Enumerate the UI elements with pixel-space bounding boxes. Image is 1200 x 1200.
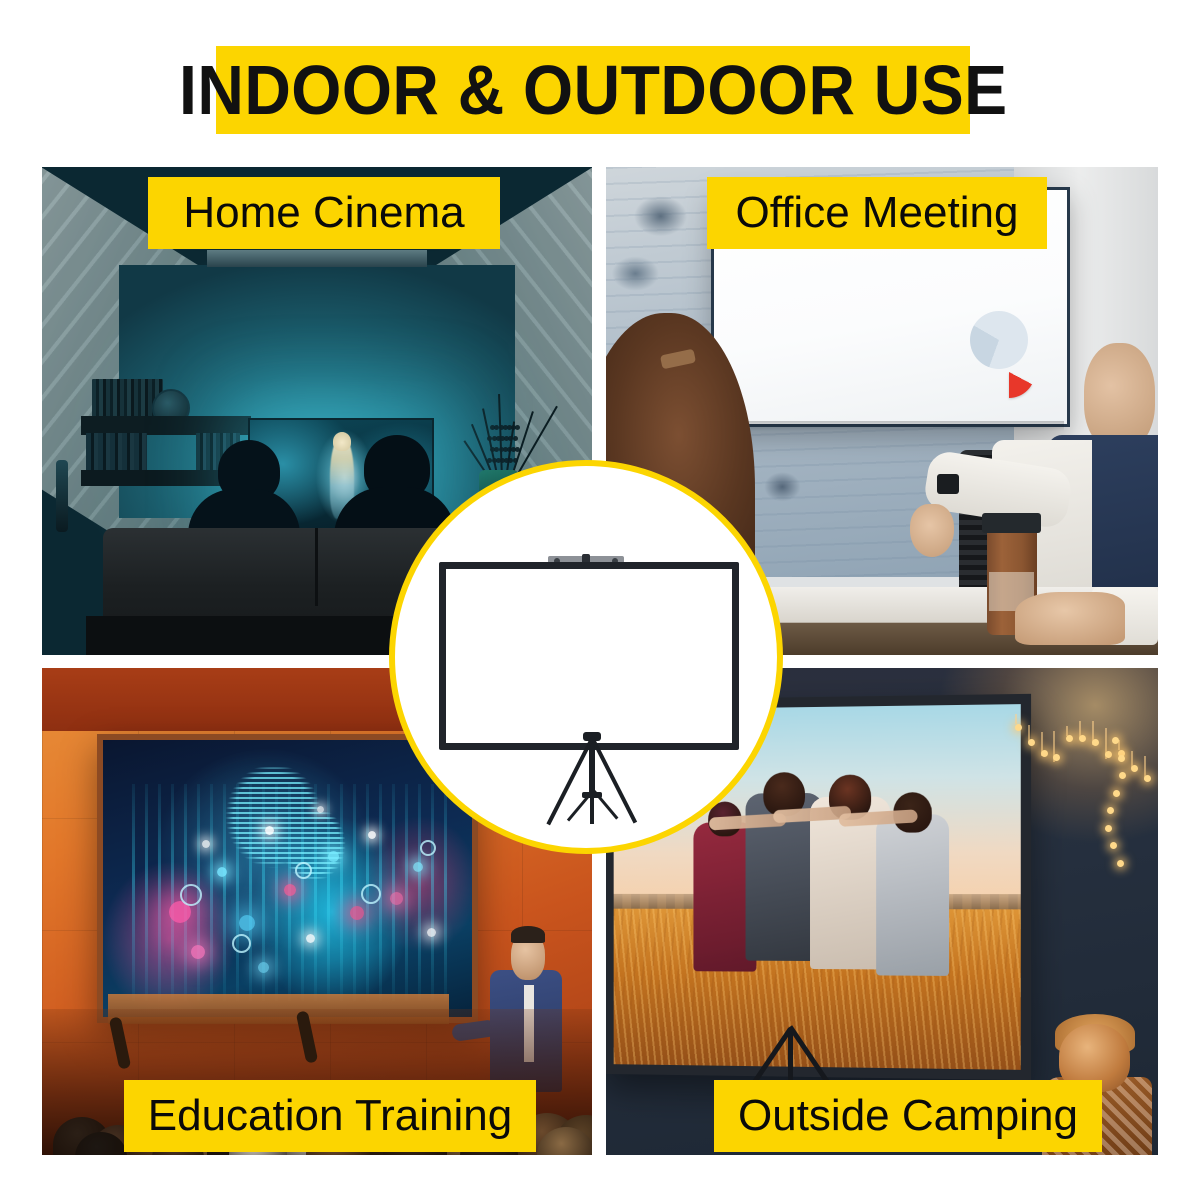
branch-bud <box>515 425 520 430</box>
string-light-bulb <box>1113 790 1120 797</box>
ceiling-beam <box>207 250 427 267</box>
floor-lamp <box>56 460 68 532</box>
screen-shadow <box>711 421 1064 431</box>
data-node <box>202 840 210 848</box>
data-node <box>284 884 296 896</box>
presenter-head <box>1084 343 1156 450</box>
string-light-bulb <box>1092 739 1099 746</box>
product-inset-circle <box>389 460 783 854</box>
badge-office-meeting: Office Meeting <box>707 177 1047 249</box>
data-node <box>306 934 315 943</box>
data-node <box>265 826 274 835</box>
tripod-leg-3 <box>546 738 593 825</box>
string-light-bulb <box>1119 772 1126 779</box>
string-light-bulb <box>1015 724 1022 731</box>
friend-body-4 <box>876 815 949 977</box>
badge-home-cinema-label: Home Cinema <box>183 191 464 235</box>
string-light-bulb <box>1028 739 1035 746</box>
light-wire-4 <box>1066 726 1068 736</box>
title-banner: INDOOR & OUTDOOR USE <box>216 46 970 134</box>
string-light-bulb <box>1105 825 1112 832</box>
badge-outside-camping-label: Outside Camping <box>738 1094 1078 1138</box>
resting-hand <box>1015 592 1125 646</box>
couch-seam <box>315 528 318 606</box>
data-node-ring <box>295 862 312 879</box>
data-node <box>368 831 376 839</box>
data-node <box>328 851 339 862</box>
string-light-bulb <box>1107 807 1114 814</box>
string-light-bulb <box>1079 735 1086 742</box>
string-light-bulb <box>1144 775 1151 782</box>
badge-education-training-label: Education Training <box>148 1094 512 1138</box>
product-screen-surface <box>439 562 739 750</box>
data-node <box>217 867 227 877</box>
wristwatch <box>937 474 959 494</box>
coffee-cup-lid <box>982 513 1041 533</box>
tripod-leg-2 <box>590 738 594 824</box>
infographic-root: INDOOR & OUTDOOR USE <box>0 0 1200 1200</box>
product-inset-inner <box>395 466 777 848</box>
string-light-bulb <box>1117 860 1124 867</box>
data-node <box>317 806 324 813</box>
string-lights <box>1009 702 1153 897</box>
presenter-pointing-hand <box>910 504 954 558</box>
light-wire-0 <box>1015 714 1017 724</box>
data-node <box>239 915 255 931</box>
pie-chart-red-slice <box>983 346 1035 398</box>
data-node <box>390 892 403 905</box>
data-node <box>413 862 423 872</box>
badge-education-training: Education Training <box>124 1080 536 1152</box>
badge-outside-camping: Outside Camping <box>714 1080 1102 1152</box>
data-node <box>427 928 436 937</box>
data-node <box>191 945 205 959</box>
branch-bud <box>513 436 518 441</box>
data-node <box>350 906 364 920</box>
badge-office-meeting-label: Office Meeting <box>736 191 1019 235</box>
string-light-bulb <box>1110 842 1117 849</box>
product-tripod <box>395 736 783 846</box>
data-node-ring <box>361 884 381 904</box>
badge-home-cinema: Home Cinema <box>148 177 500 249</box>
data-node-ring <box>232 934 251 953</box>
movie-character-hair <box>333 432 351 451</box>
string-light-bulb <box>1118 755 1125 762</box>
data-node <box>258 962 269 973</box>
tripod-leg-1 <box>590 736 637 823</box>
branch-bud <box>513 458 518 463</box>
bookshelf-books-mid <box>86 433 147 470</box>
dried-branch-plant <box>449 343 554 480</box>
string-light-bulb <box>1105 751 1112 758</box>
tripod-collar <box>582 792 602 798</box>
string-light-bulb <box>1041 750 1048 757</box>
string-light-bulb <box>1131 765 1138 772</box>
page-title: INDOOR & OUTDOOR USE <box>179 55 1008 125</box>
string-light-bulb <box>1053 754 1060 761</box>
string-light-bulb <box>1066 735 1073 742</box>
presenter-hair <box>511 926 545 943</box>
data-node-ring <box>180 884 202 906</box>
